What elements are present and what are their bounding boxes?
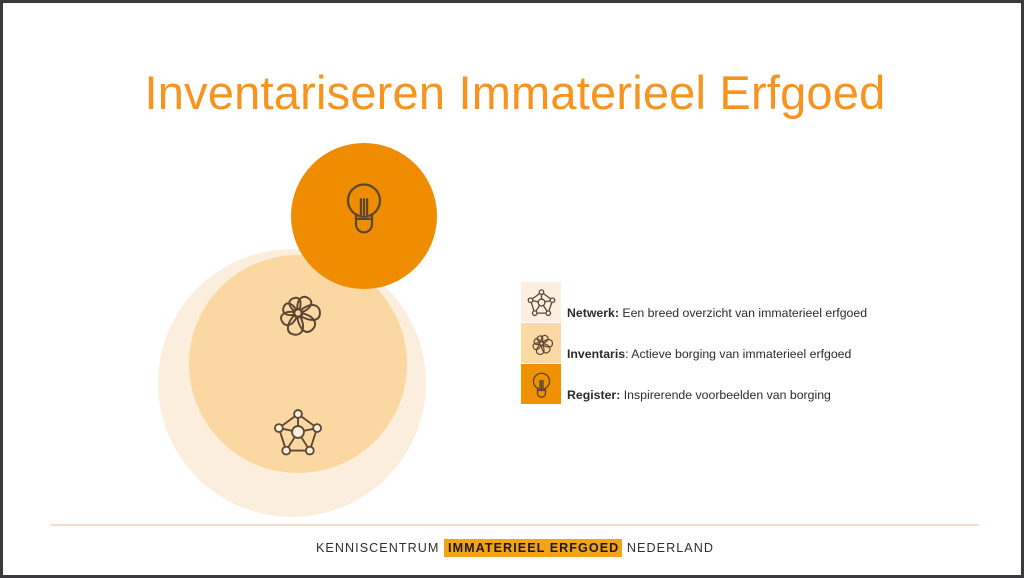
footer-highlight: IMMATERIEEL ERFGOED (444, 539, 622, 557)
legend-item-netwerk: Netwerk: Een breed overzicht van immater… (521, 281, 941, 322)
legend-item-inventaris: Inventaris: Actieve borging van immateri… (521, 322, 941, 363)
leaf-pinwheel-icon (267, 282, 329, 344)
slide-canvas: Inventariseren Immaterieel Erfgoed (0, 0, 1024, 578)
network-nodes-icon (526, 287, 557, 318)
legend-swatch-inventaris (521, 323, 561, 363)
lightbulb-icon (333, 176, 395, 238)
legend-label-netwerk: Netwerk: Een breed overzicht van immater… (561, 307, 867, 322)
legend-item-register: Register: Inspirerende voorbeelden van b… (521, 363, 941, 404)
legend-term-inventaris: Inventaris (567, 347, 625, 361)
legend-desc-inventaris: : Actieve borging van immaterieel erfgoe… (625, 347, 851, 361)
lightbulb-icon (526, 369, 557, 400)
legend-swatch-netwerk (521, 282, 561, 322)
footer-prefix: KENNISCENTRUM (316, 541, 444, 555)
concentric-diagram (143, 131, 453, 476)
legend-label-inventaris: Inventaris: Actieve borging van immateri… (561, 348, 851, 363)
footer-divider (51, 524, 979, 526)
legend-label-register: Register: Inspirerende voorbeelden van b… (561, 389, 831, 404)
footer-suffix: NEDERLAND (622, 541, 714, 555)
legend-swatch-register (521, 364, 561, 404)
legend-term-register: Register: (567, 388, 620, 402)
legend: Netwerk: Een breed overzicht van immater… (521, 281, 941, 404)
page-title: Inventariseren Immaterieel Erfgoed (3, 65, 1024, 120)
footer-branding: KENNISCENTRUM IMMATERIEEL ERFGOED NEDERL… (3, 541, 1024, 555)
legend-term-netwerk: Netwerk: (567, 306, 619, 320)
legend-desc-register: Inspirerende voorbeelden van borging (620, 388, 831, 402)
legend-desc-netwerk: Een breed overzicht van immaterieel erfg… (619, 306, 867, 320)
leaf-pinwheel-icon (526, 328, 557, 359)
network-nodes-icon (271, 405, 325, 459)
